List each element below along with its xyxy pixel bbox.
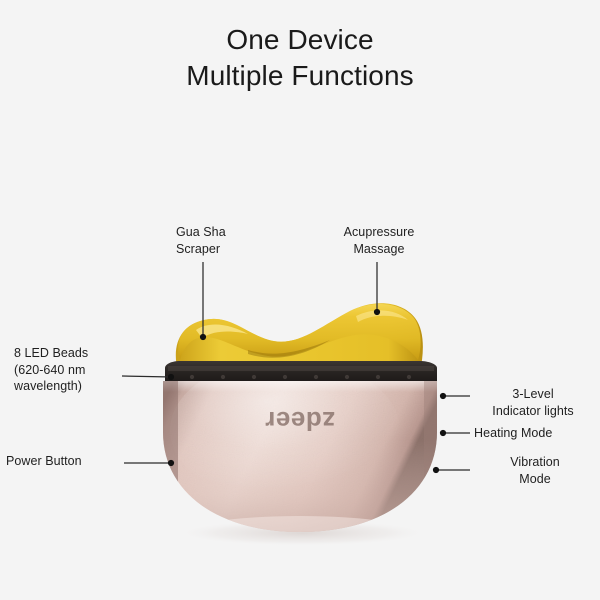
callout-power-button: Power Button <box>6 453 132 470</box>
callout-indicator-lights: 3-Level Indicator lights <box>474 386 592 419</box>
gua-sha-top <box>176 303 423 372</box>
callout-vibration-mode: Vibration Mode <box>482 454 588 487</box>
leader-lines <box>122 262 470 470</box>
dot-power-button <box>168 460 174 466</box>
callout-acupressure-massage: Acupressure Massage <box>320 224 438 257</box>
product-shadow <box>176 520 428 546</box>
dot-indicator <box>440 393 446 399</box>
infographic-page: One Device Multiple Functions <box>0 0 600 600</box>
callout-heating-mode: Heating Mode <box>474 425 592 442</box>
page-title-line-2: Multiple Functions <box>0 58 600 94</box>
dot-acupressure <box>374 309 380 315</box>
led-ring-collar <box>165 361 437 390</box>
page-title: One Device Multiple Functions <box>0 22 600 94</box>
led-beads <box>190 375 411 379</box>
callout-gua-sha-scraper: Gua Sha Scraper <box>176 224 296 257</box>
dot-gua-sha <box>200 334 206 340</box>
dot-heating <box>440 430 446 436</box>
brand-logo: zdeer <box>265 406 335 436</box>
dot-vibration <box>433 467 439 473</box>
page-title-line-1: One Device <box>0 22 600 58</box>
dot-led-beads <box>168 374 174 380</box>
leader-led-beads <box>122 376 172 377</box>
leader-dots <box>168 309 446 473</box>
callout-led-beads: 8 LED Beads (620-640 nm wavelength) <box>14 345 126 395</box>
device-body: zdeer <box>160 358 442 552</box>
